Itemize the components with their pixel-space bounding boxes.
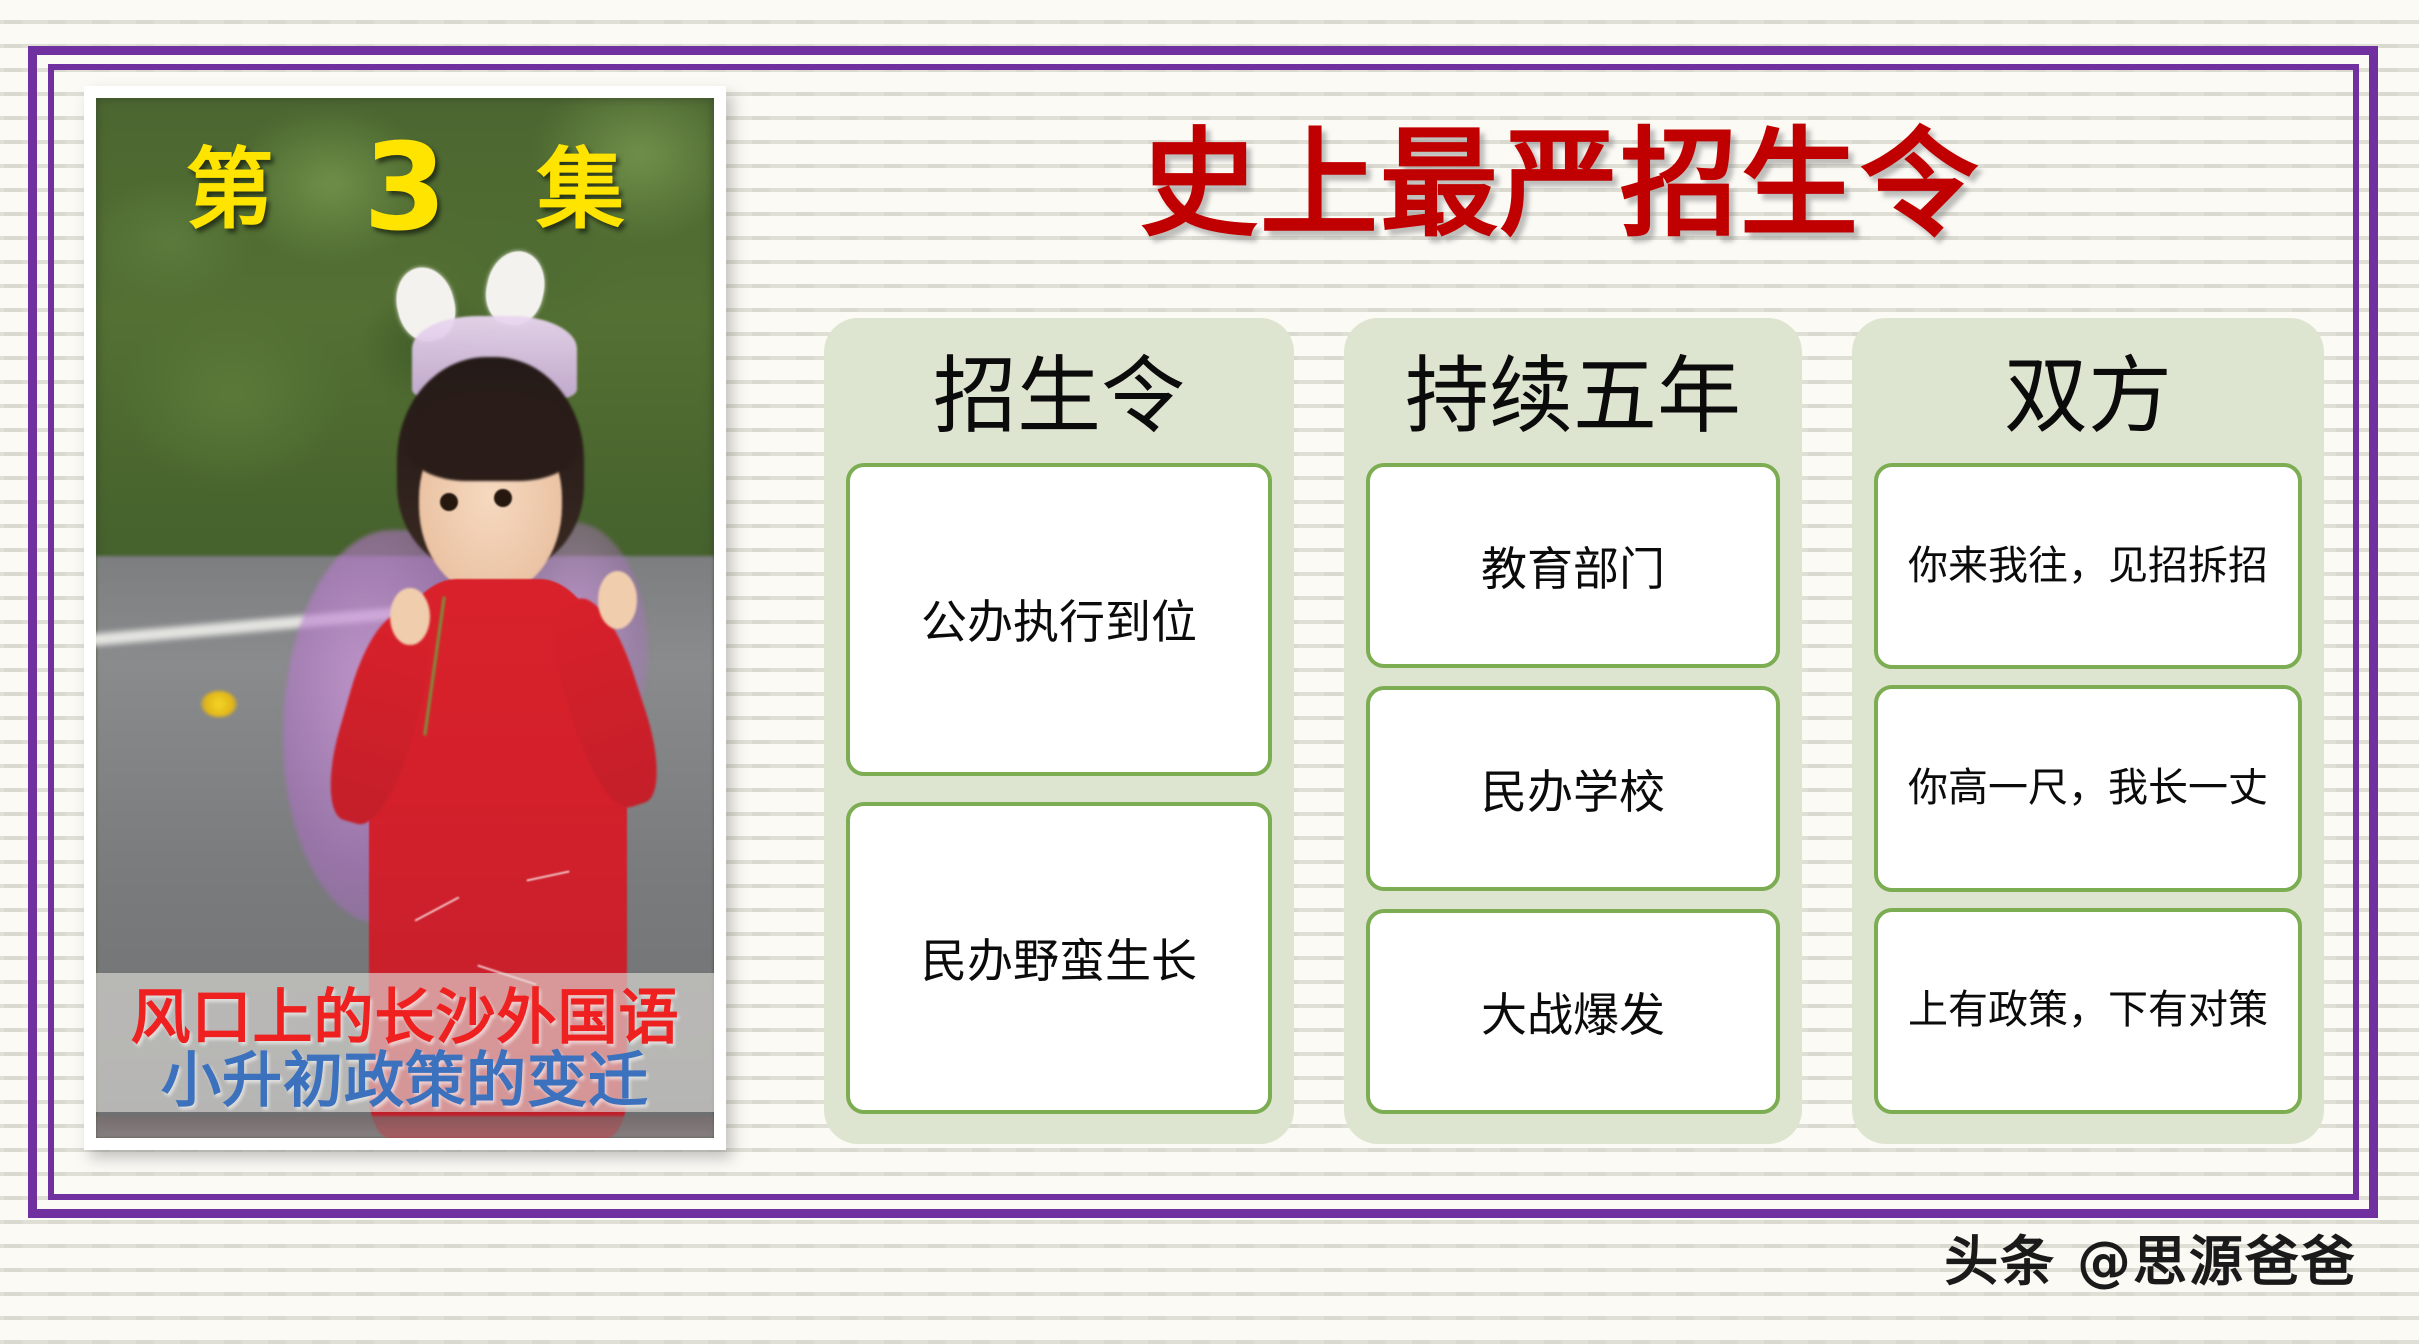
column-header: 持续五年 xyxy=(1366,344,1780,449)
page-title: 史上最严招生令 xyxy=(760,122,2360,246)
photo-image: 第 3 集 风口上的长沙外国语 小升初政策的变迁 xyxy=(96,98,714,1138)
column-card-list: 教育部门 民办学校 大战爆发 xyxy=(1366,463,1780,1114)
content-card[interactable]: 你来我往，见招拆招 xyxy=(1874,463,2302,669)
column-zhaoshengling: 招生令 公办执行到位 民办野蛮生长 xyxy=(824,318,1294,1144)
content-card[interactable]: 教育部门 xyxy=(1366,463,1780,668)
content-card[interactable]: 上有政策，下有对策 xyxy=(1874,908,2302,1114)
content-columns: 招生令 公办执行到位 民办野蛮生长 持续五年 教育部门 民办学校 大战爆发 双方… xyxy=(824,318,2324,1144)
content-card[interactable]: 民办学校 xyxy=(1366,686,1780,891)
column-card-list: 你来我往，见招拆招 你高一尺，我长一丈 上有政策，下有对策 xyxy=(1874,463,2302,1114)
photo-yellow-flower xyxy=(201,691,237,717)
slide-canvas: 第 3 集 风口上的长沙外国语 小升初政策的变迁 史上最严招生令 招生令 公办执… xyxy=(0,0,2419,1344)
content-card[interactable]: 公办执行到位 xyxy=(846,463,1272,776)
content-card[interactable]: 你高一尺，我长一丈 xyxy=(1874,685,2302,891)
column-header: 招生令 xyxy=(846,344,1272,449)
photo-child-hand-left xyxy=(390,588,429,646)
column-chixuwunian: 持续五年 教育部门 民办学校 大战爆发 xyxy=(1344,318,1802,1144)
content-card[interactable]: 大战爆发 xyxy=(1366,909,1780,1114)
watermark: 头条 @思源爸爸 xyxy=(1944,1217,2357,1296)
content-card[interactable]: 民办野蛮生长 xyxy=(846,802,1272,1115)
photo-child-eye-right xyxy=(494,489,512,507)
photo-card: 第 3 集 风口上的长沙外国语 小升初政策的变迁 xyxy=(84,86,726,1150)
photo-child-subject xyxy=(318,316,676,1138)
column-card-list: 公办执行到位 民办野蛮生长 xyxy=(846,463,1272,1114)
column-shuangfang: 双方 你来我往，见招拆招 你高一尺，我长一丈 上有政策，下有对策 xyxy=(1852,318,2324,1144)
photo-child-bangs xyxy=(408,390,576,480)
column-header: 双方 xyxy=(1874,344,2302,449)
photo-child-hand-right xyxy=(598,571,637,629)
